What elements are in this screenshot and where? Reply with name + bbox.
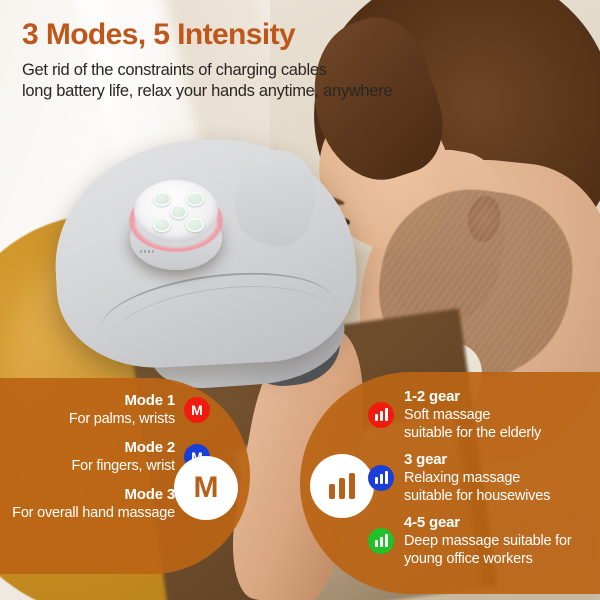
hub-pad-top-right (186, 192, 204, 206)
modes-feature-circle: M (174, 456, 238, 520)
hub-pad-center (170, 205, 187, 219)
modes-list: Mode 1 For palms, wrists M Mode 2 For fi… (0, 392, 210, 533)
gear-2-text: 3 gear Relaxing massage suitable for hou… (404, 451, 550, 505)
mode-1-title: Mode 1 (69, 392, 175, 410)
intensity-feature-circle (310, 454, 374, 518)
hub-pad-bottom-right (186, 218, 204, 232)
modes-panel: Mode 1 For palms, wrists M Mode 2 For fi… (0, 378, 250, 574)
mode-1-text: Mode 1 For palms, wrists (69, 392, 175, 428)
gear-3-desc-line-1: Deep massage suitable for (404, 532, 572, 550)
mode-letter-icon: M (194, 473, 219, 503)
mode-1-badge-icon: M (184, 397, 210, 423)
signal-bars-icon (329, 473, 355, 499)
subheadline-line-2: long battery life, relax your hands anyt… (22, 81, 392, 102)
gear-row-3: 4-5 gear Deep massage suitable for young… (368, 514, 600, 568)
gear-2-signal-bars-icon (368, 465, 394, 491)
gear-1-desc-line-2: suitable for the elderly (404, 424, 541, 442)
mode-2-title: Mode 2 (71, 439, 175, 457)
mode-3-text: Mode 3 For overall hand massage (12, 486, 175, 522)
gear-2-desc-line-2: suitable for housewives (404, 487, 550, 505)
gear-row-1: 1-2 gear Soft massage suitable for the e… (368, 388, 600, 442)
gear-1-title: 1-2 gear (404, 388, 541, 406)
mode-2-desc: For fingers, wrist (71, 457, 175, 475)
gear-3-text: 4-5 gear Deep massage suitable for young… (404, 514, 572, 568)
hub-pad-bottom-left (153, 218, 171, 232)
gear-row-2: 3 gear Relaxing massage suitable for hou… (368, 451, 600, 505)
gear-list: 1-2 gear Soft massage suitable for the e… (368, 388, 600, 577)
gear-3-signal-bars-icon (368, 528, 394, 554)
headline: 3 Modes, 5 Intensity (22, 18, 295, 52)
hub-vent-slot (140, 250, 154, 253)
mode-row-1: Mode 1 For palms, wrists M (0, 392, 210, 428)
hub-top-face (134, 180, 218, 242)
mode-3-title: Mode 3 (12, 486, 175, 504)
mode-2-text: Mode 2 For fingers, wrist (71, 439, 175, 475)
gear-1-signal-bars-icon (368, 402, 394, 428)
gear-1-desc-line-1: Soft massage (404, 406, 541, 424)
gear-3-desc-line-2: young office workers (404, 550, 572, 568)
intensity-panel: 1-2 gear Soft massage suitable for the e… (300, 372, 600, 594)
subheadline-line-1: Get rid of the constraints of charging c… (22, 60, 392, 81)
gear-2-title: 3 gear (404, 451, 550, 469)
gear-1-text: 1-2 gear Soft massage suitable for the e… (404, 388, 541, 442)
hub-pad-top-left (153, 192, 171, 206)
subheadline: Get rid of the constraints of charging c… (22, 60, 392, 102)
control-hub (128, 178, 224, 274)
gear-2-desc-line-1: Relaxing massage (404, 469, 550, 487)
mode-3-desc: For overall hand massage (12, 504, 175, 522)
mode-1-desc: For palms, wrists (69, 410, 175, 428)
gear-3-title: 4-5 gear (404, 514, 572, 532)
product-feature-banner: 3 Modes, 5 Intensity Get rid of the cons… (0, 0, 600, 600)
